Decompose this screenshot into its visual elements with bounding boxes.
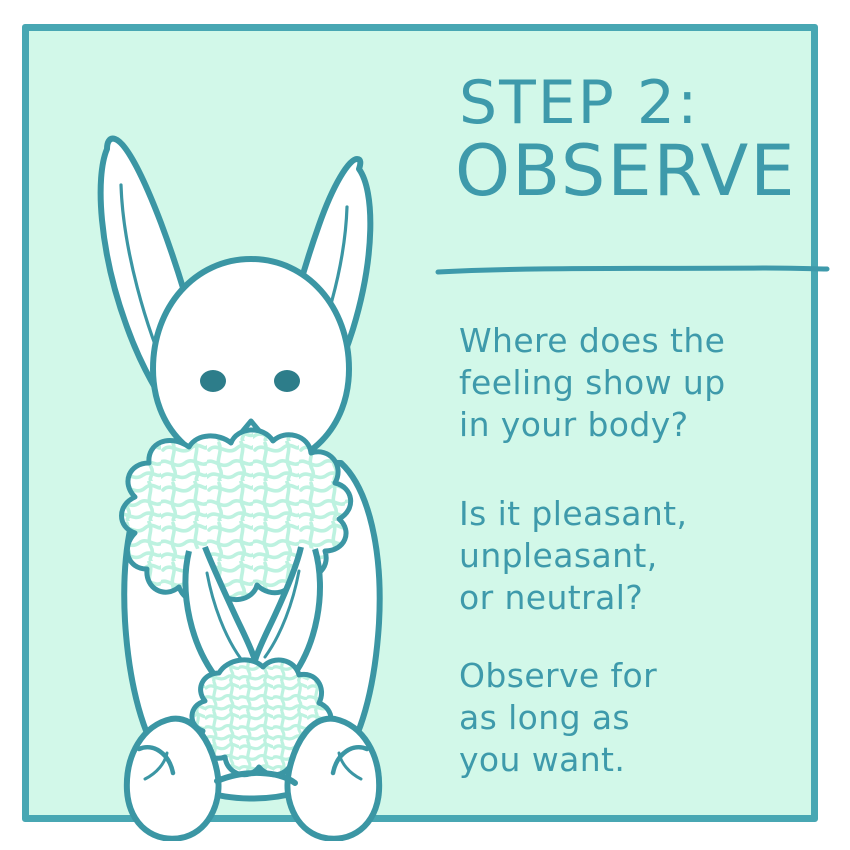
- illustration-card: STEP 2: OBSERVE Where does the feeling s…: [0, 0, 850, 850]
- title-line-observe: OBSERVE: [455, 138, 847, 205]
- paragraph-line: unpleasant,: [459, 535, 687, 577]
- bunny-foot-right: [287, 719, 379, 839]
- paragraph-line: Where does the: [459, 320, 726, 362]
- bunny-foot-left: [127, 719, 219, 839]
- title-underline-rule: [435, 265, 831, 275]
- paragraph-line: in your body?: [459, 404, 726, 446]
- paragraph-line: Observe for: [459, 655, 657, 697]
- title-line-step: STEP 2:: [459, 75, 847, 132]
- paragraph-line: you want.: [459, 739, 657, 781]
- paragraph-line: as long as: [459, 697, 657, 739]
- card-frame: STEP 2: OBSERVE Where does the feeling s…: [22, 24, 818, 822]
- bunny-illustration: [69, 81, 449, 841]
- paragraph-observe-as-long-as-you-want: Observe for as long as you want.: [459, 655, 657, 781]
- bunny-eye-right: [274, 370, 300, 392]
- bunny-body-group: [101, 139, 380, 839]
- paragraph-pleasant-unpleasant-neutral: Is it pleasant, unpleasant, or neutral?: [459, 493, 687, 619]
- page-title: STEP 2: OBSERVE: [455, 75, 847, 205]
- paragraph-line: or neutral?: [459, 577, 687, 619]
- paragraph-where-does-the-feeling: Where does the feeling show up in your b…: [459, 320, 726, 446]
- text-column: STEP 2: OBSERVE Where does the feeling s…: [447, 75, 847, 835]
- paragraph-line: feeling show up: [459, 362, 726, 404]
- bunny-eye-left: [200, 370, 226, 392]
- paragraph-line: Is it pleasant,: [459, 493, 687, 535]
